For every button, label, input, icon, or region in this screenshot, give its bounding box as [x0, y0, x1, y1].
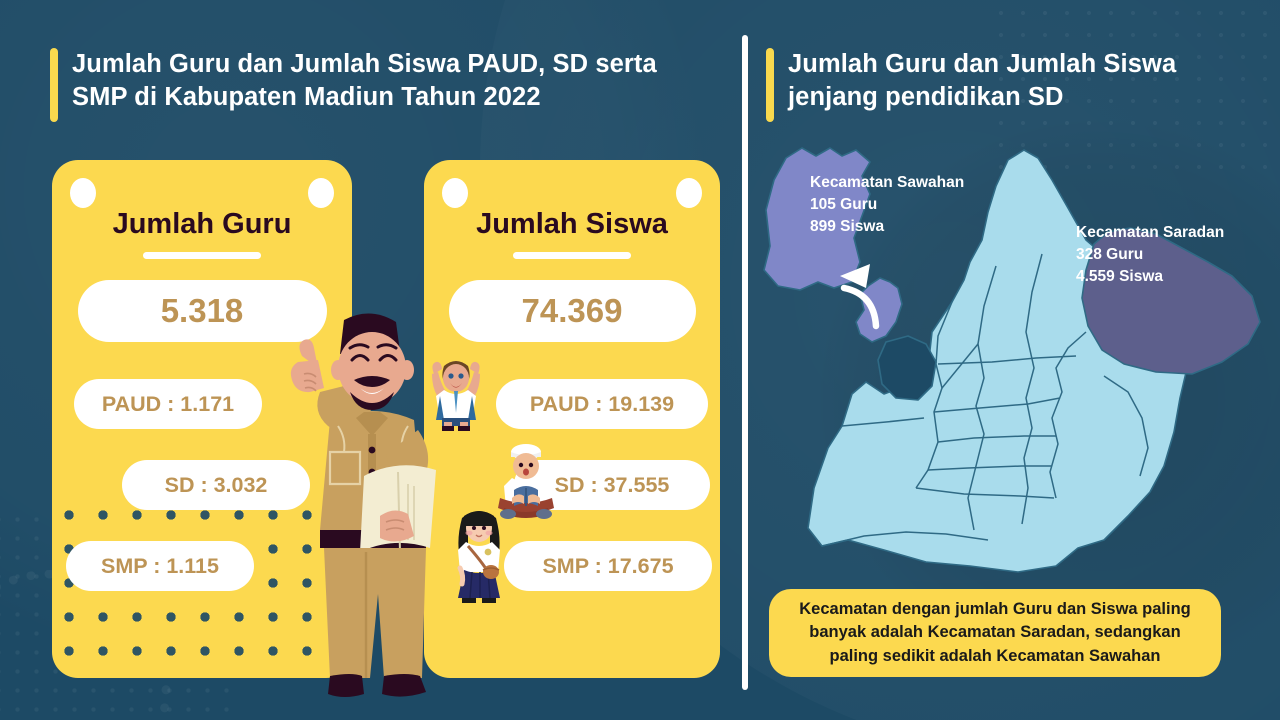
card-hole-left-icon: [442, 178, 468, 208]
right-title-text: Jumlah Guru dan Jumlah Siswa jenjang pen…: [788, 48, 1236, 122]
card-hole-right-icon: [308, 178, 334, 208]
left-panel-title: Jumlah Guru dan Jumlah Siswa PAUD, SD se…: [50, 48, 710, 122]
smp-student-illustration-icon: [448, 504, 510, 604]
map-label-saradan: Kecamatan Saradan 328 Guru 4.559 Siswa: [1076, 222, 1224, 288]
map-label-saradan-guru: 328 Guru: [1076, 244, 1224, 266]
title-accent-bar: [766, 48, 774, 122]
panel-divider: [742, 35, 748, 690]
stat-pill-paud: PAUD : 19.139: [496, 379, 708, 429]
summary-note: Kecamatan dengan jumlah Guru dan Siswa p…: [769, 589, 1221, 677]
map-label-saradan-siswa: 4.559 Siswa: [1076, 266, 1224, 288]
right-panel-title: Jumlah Guru dan Jumlah Siswa jenjang pen…: [766, 48, 1236, 122]
card-hole-right-icon: [676, 178, 702, 208]
card-total-value: 74.369: [449, 280, 696, 342]
card-underline: [513, 252, 631, 259]
map-label-sawahan-name: Kecamatan Sawahan: [810, 172, 964, 194]
map-region-inset: [878, 336, 936, 400]
card-title: Jumlah Guru: [52, 208, 352, 241]
card-underline: [143, 252, 261, 259]
title-accent-bar: [50, 48, 58, 122]
stat-pill-smp: SMP : 1.115: [66, 541, 254, 591]
map-label-saradan-name: Kecamatan Saradan: [1076, 222, 1224, 244]
left-title-text: Jumlah Guru dan Jumlah Siswa PAUD, SD se…: [72, 48, 710, 122]
infographic-canvas: Jumlah Guru dan Jumlah Siswa PAUD, SD se…: [0, 0, 1280, 720]
map-region-sawahan-exclave: [856, 278, 902, 342]
map-label-sawahan: Kecamatan Sawahan 105 Guru 899 Siswa: [810, 172, 964, 238]
map-label-sawahan-siswa: 899 Siswa: [810, 216, 964, 238]
paud-student-illustration-icon: [426, 356, 486, 432]
stat-pill-smp: SMP : 17.675: [504, 541, 712, 591]
card-hole-left-icon: [70, 178, 96, 208]
stat-pill-paud: PAUD : 1.171: [74, 379, 262, 429]
card-title: Jumlah Siswa: [424, 208, 720, 241]
map-label-sawahan-guru: 105 Guru: [810, 194, 964, 216]
